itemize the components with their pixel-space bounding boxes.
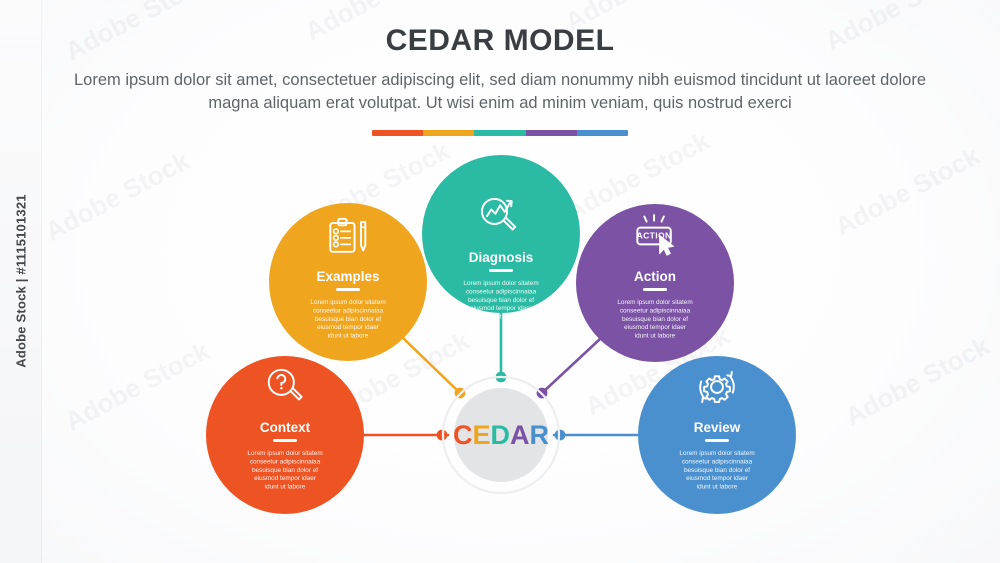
node-title-review: Review [694,420,741,435]
node-title-examples: Examples [316,269,379,284]
node-title-context: Context [260,420,311,435]
node-divider-examples [336,288,360,291]
node-divider-action [643,288,667,291]
node-title-action: Action [634,269,676,284]
node-diagnosis[interactable]: DiagnosisLorem ipsum dolor sitatemconsee… [422,155,580,321]
cedar-hub[interactable]: CEDAR [443,377,559,493]
stock-credit-text: Adobe Stock | #1115101321 [14,194,29,367]
node-review[interactable]: ReviewLorem ipsum dolor sitatemconseetur… [638,356,796,514]
node-action[interactable]: ActionLorem ipsum dolor sitatemconseetur… [576,204,734,362]
node-examples[interactable]: ExamplesLorem ipsum dolor sitatemconseet… [269,203,427,361]
connector-examples [403,338,460,393]
hub-label: CEDAR [453,420,549,450]
connector-action [542,339,600,393]
node-divider-context [273,439,297,442]
node-divider-review [705,439,729,442]
stock-credit-bar: Adobe Stock | #1115101321 [0,0,42,563]
node-body-diagnosis: Lorem ipsum dolor sitatemconseetur adipi… [463,280,538,321]
infographic-canvas: Adobe Stock Adobe Stock Adobe Stock Adob… [0,0,1000,563]
node-title-diagnosis: Diagnosis [469,250,534,265]
node-context[interactable]: ContextLorem ipsum dolor sitatemconseetu… [206,356,364,514]
node-divider-diagnosis [489,269,513,272]
cedar-model-diagram: ContextLorem ipsum dolor sitatemconseetu… [0,0,1000,563]
